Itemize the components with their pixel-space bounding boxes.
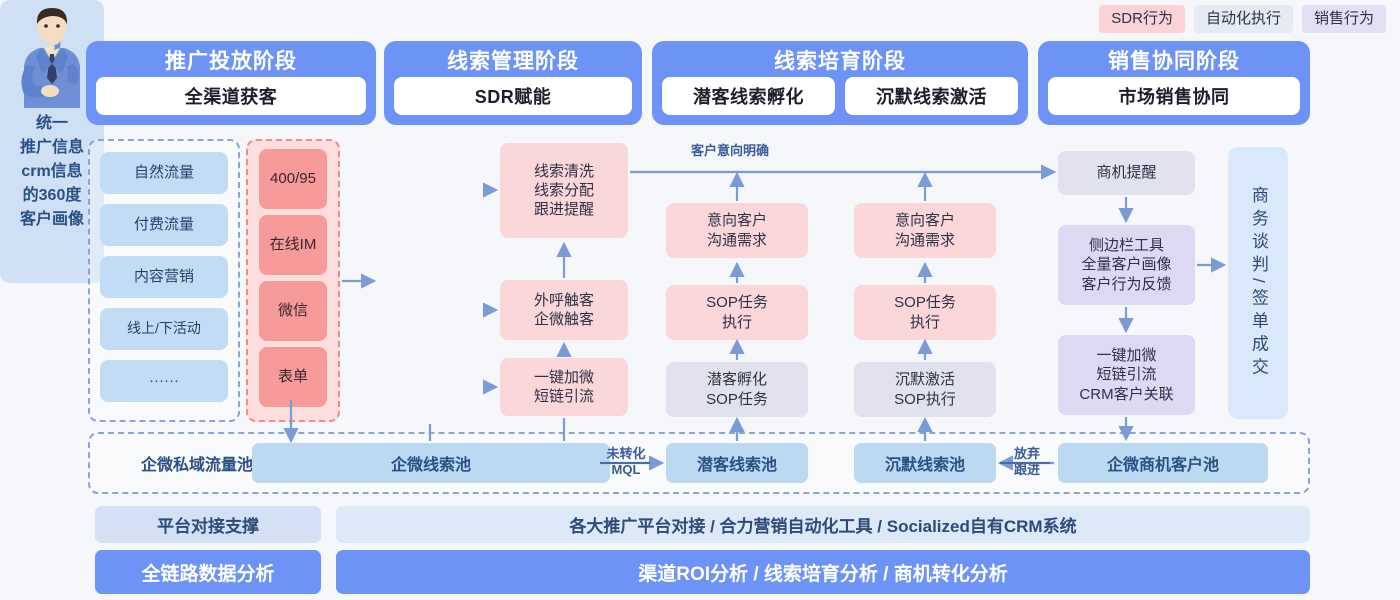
pool-item-silent-lead[interactable]: 沉默线索池 — [854, 443, 996, 483]
stage-title: 线索管理阶段 — [447, 47, 579, 77]
diagram-canvas: SDR行为 自动化执行 销售行为 推广投放阶段 全渠道获客 线索管理阶段 SDR… — [0, 0, 1400, 600]
legend-item-sdr: SDR行为 — [1099, 5, 1185, 33]
edge-label-intent-clear: 客户意向明确 — [560, 143, 900, 159]
stage-sub-list: 市场销售协同 — [1048, 77, 1300, 115]
pool-item-prospect-lead[interactable]: 潜客线索池 — [666, 443, 808, 483]
sdr-node-add-wechat[interactable]: 一键加微短链引流 — [500, 358, 628, 416]
stage-title: 推广投放阶段 — [165, 47, 297, 77]
bottom-bar-platform-value: 各大推广平台对接 / 合力营销自动化工具 / Socialized自有CRM系统 — [336, 506, 1310, 543]
stage-header-lead-management: 线索管理阶段 SDR赋能 — [384, 41, 642, 125]
deal-closing-node[interactable]: 商务谈判/签单成交 — [1228, 147, 1288, 419]
sales-node-opportunity-alert[interactable]: 商机提醒 — [1058, 151, 1195, 195]
profile-text: 统一推广信息crm信息的360度客户画像 — [20, 112, 84, 232]
stage-sub-list: 全渠道获客 — [96, 77, 366, 115]
channel-item[interactable]: ······ — [100, 360, 228, 402]
sales-node-sidebar-tool[interactable]: 侧边栏工具全量客户画像客户行为反馈 — [1058, 225, 1195, 305]
stage-sub-item[interactable]: 市场销售协同 — [1048, 77, 1300, 115]
legend-item-sales: 销售行为 — [1302, 5, 1386, 33]
bottom-bar-analytics-label: 全链路数据分析 — [95, 550, 321, 594]
stage-sub-item[interactable]: 潜客线索孵化 — [662, 77, 835, 115]
nurture-a-node-intent[interactable]: 意向客户沟通需求 — [666, 203, 808, 258]
channel-item[interactable]: 内容营销 — [100, 256, 228, 298]
channel-item[interactable]: 自然流量 — [100, 152, 228, 194]
nurture-b-node-sop[interactable]: SOP任务执行 — [854, 285, 996, 340]
bottom-bar-platform-label: 平台对接支撑 — [95, 506, 321, 543]
sales-node-crm-link[interactable]: 一键加微短链引流CRM客户关联 — [1058, 335, 1195, 415]
edge-label-mql: 未转化MQL — [596, 446, 656, 479]
legend: SDR行为 自动化执行 销售行为 — [1099, 5, 1386, 33]
touchpoint-item[interactable]: 表单 — [259, 347, 327, 407]
touchpoint-item[interactable]: 微信 — [259, 281, 327, 341]
channel-item[interactable]: 付费流量 — [100, 204, 228, 246]
pool-item-opportunity[interactable]: 企微商机客户池 — [1058, 443, 1268, 483]
stage-sub-list: 潜客线索孵化 沉默线索激活 — [662, 77, 1018, 115]
stage-sub-item[interactable]: 全渠道获客 — [96, 77, 366, 115]
nurture-a-node-task[interactable]: 潜客孵化SOP任务 — [666, 362, 808, 417]
stage-sub-item[interactable]: 沉默线索激活 — [845, 77, 1018, 115]
stage-sub-list: SDR赋能 — [394, 77, 632, 115]
channel-item[interactable]: 线上/下活动 — [100, 308, 228, 350]
stage-title: 销售协同阶段 — [1108, 47, 1240, 77]
stage-header-sales-collab: 销售协同阶段 市场销售协同 — [1038, 41, 1310, 125]
touchpoint-item[interactable]: 400/95 — [259, 149, 327, 209]
bottom-bar-analytics-value: 渠道ROI分析 / 线索培育分析 / 商机转化分析 — [336, 550, 1310, 594]
sdr-node-outcall[interactable]: 外呼触客企微触客 — [500, 280, 628, 340]
nurture-b-node-intent[interactable]: 意向客户沟通需求 — [854, 203, 996, 258]
nurture-a-node-sop[interactable]: SOP任务执行 — [666, 285, 808, 340]
stage-header-promotion: 推广投放阶段 全渠道获客 — [86, 41, 376, 125]
touchpoint-item[interactable]: 在线IM — [259, 215, 327, 275]
legend-item-automation: 自动化执行 — [1194, 5, 1293, 33]
nurture-b-node-task[interactable]: 沉默激活SOP执行 — [854, 362, 996, 417]
stage-title: 线索培育阶段 — [774, 47, 906, 77]
pool-item-qw-lead[interactable]: 企微线索池 — [252, 443, 610, 483]
stage-header-lead-nurture: 线索培育阶段 潜客线索孵化 沉默线索激活 — [652, 41, 1028, 125]
stage-sub-item[interactable]: SDR赋能 — [394, 77, 632, 115]
edge-label-drop-followup: 放弃跟进 — [1000, 446, 1054, 479]
